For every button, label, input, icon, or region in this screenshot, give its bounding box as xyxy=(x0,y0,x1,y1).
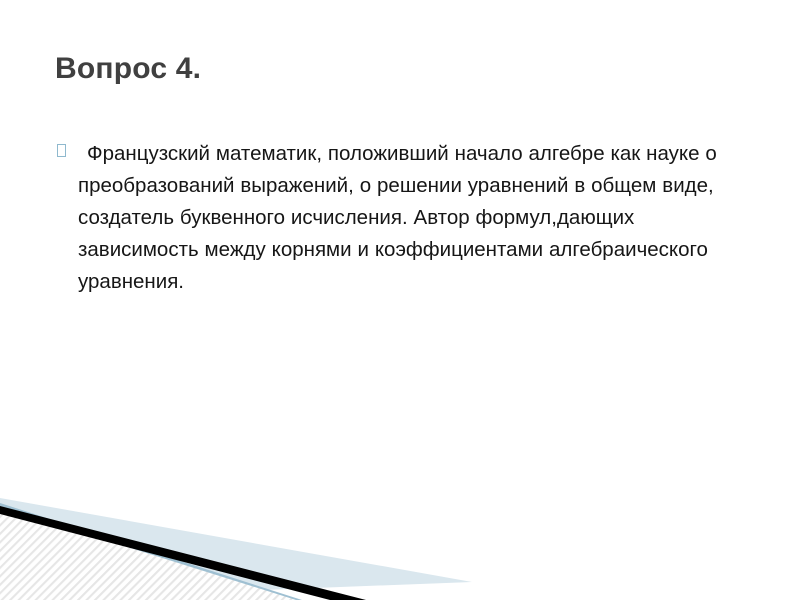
list-item: Французский математик, положивший начало… xyxy=(55,138,755,298)
page-title: Вопрос 4. xyxy=(55,52,201,86)
blue-wedge-shape xyxy=(0,498,472,600)
list-item-label: Французский математик, положивший начало… xyxy=(78,138,760,298)
black-wedge-shape xyxy=(0,506,366,600)
slide-canvas: Вопрос 4. Французский математик, положив… xyxy=(0,0,800,600)
hollow-square-bullet-icon xyxy=(57,144,66,157)
body-content: Французский математик, положивший начало… xyxy=(55,138,755,298)
wedge-edge-line xyxy=(0,503,302,600)
striped-wedge-shape xyxy=(0,505,300,600)
footer-decoration xyxy=(0,490,800,600)
